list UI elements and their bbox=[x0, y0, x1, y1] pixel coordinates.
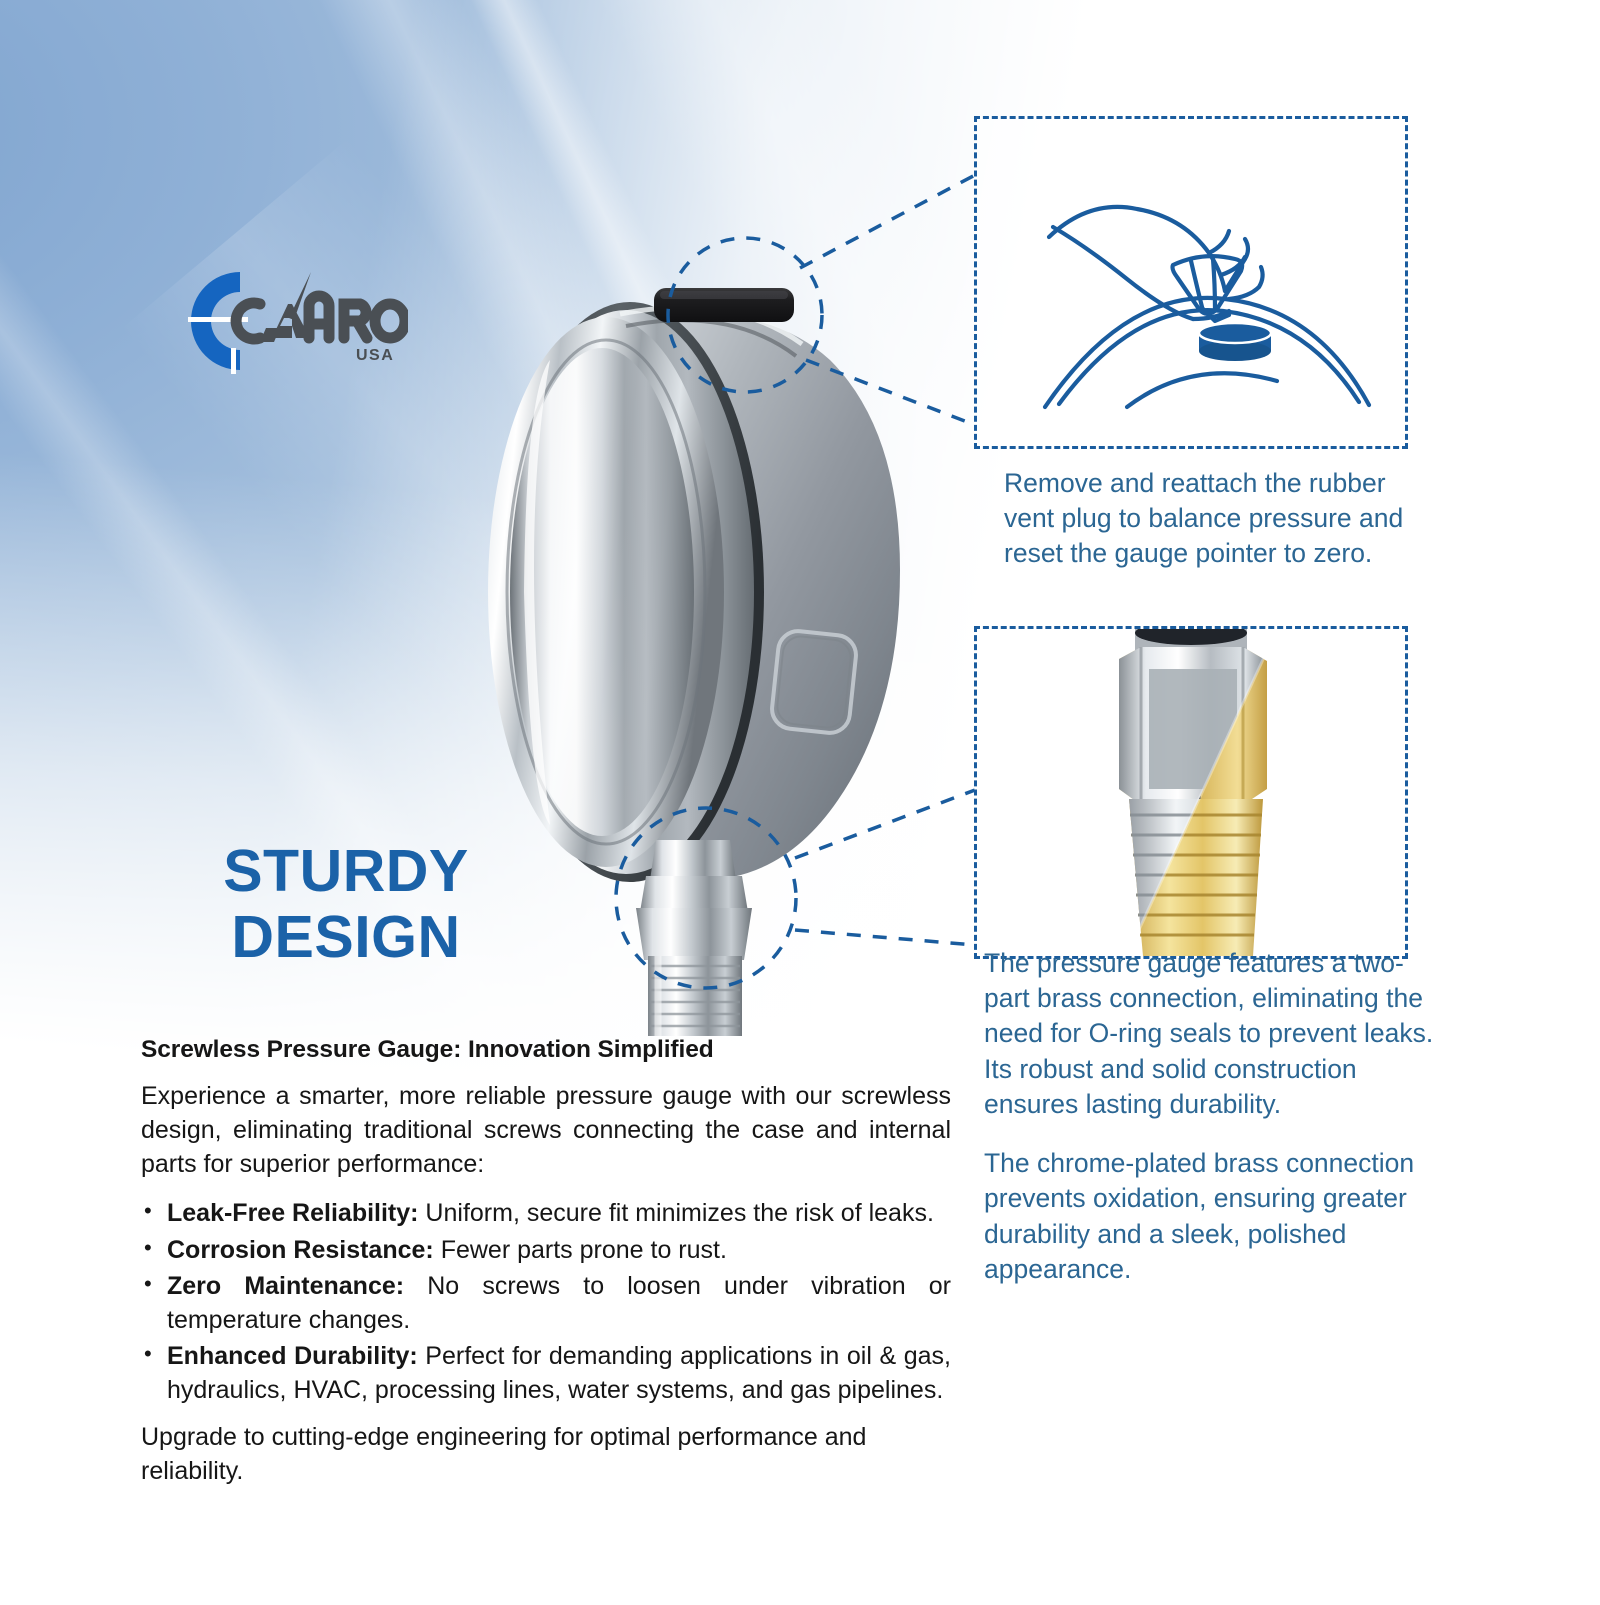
bullet-label: Leak-Free Reliability: bbox=[167, 1199, 418, 1227]
chrome-plated-brass-connection-photo bbox=[977, 629, 1405, 956]
list-item: Enhanced Durability: Perfect for demandi… bbox=[141, 1340, 951, 1407]
vent-plug-disc-icon bbox=[1199, 323, 1271, 361]
carbo-usa-logo: USA bbox=[168, 262, 408, 380]
body-copy-block: Screwless Pressure Gauge: Innovation Sim… bbox=[141, 1036, 951, 1488]
vent-plug-caption: Remove and reattach the rubber vent plug… bbox=[1004, 466, 1434, 572]
feature-bullet-list: Leak-Free Reliability: Uniform, secure f… bbox=[141, 1197, 951, 1407]
bullet-label: Enhanced Durability: bbox=[167, 1342, 418, 1370]
brass-caption-line-b: Its robust and solid construction ensure… bbox=[984, 1054, 1357, 1119]
brass-connection-caption: The pressure gauge features a two-part b… bbox=[984, 946, 1434, 1287]
body-intro-paragraph: Experience a smarter, more reliable pres… bbox=[141, 1080, 951, 1181]
rubber-vent-plug-icon bbox=[654, 288, 794, 322]
product-image-pressure-gauge bbox=[430, 240, 970, 1040]
vent-plug-illustration-panel bbox=[974, 116, 1408, 449]
list-item: Leak-Free Reliability: Uniform, secure f… bbox=[141, 1197, 951, 1231]
brass-caption-line-a: The pressure gauge features a two-part b… bbox=[984, 948, 1433, 1048]
brass-caption-paragraph-2: The chrome-plated brass connection preve… bbox=[984, 1146, 1434, 1287]
vent-plug-caption-text: Remove and reattach the rubber vent plug… bbox=[1004, 468, 1403, 568]
body-heading: Screwless Pressure Gauge: Innovation Sim… bbox=[141, 1036, 951, 1064]
brass-connection-panel bbox=[974, 626, 1408, 959]
bullet-text: Fewer parts prone to rust. bbox=[434, 1236, 727, 1264]
hand-removing-rubber-vent-plug-illustration bbox=[977, 119, 1405, 446]
body-outro-paragraph: Upgrade to cutting-edge engineering for … bbox=[141, 1421, 951, 1488]
list-item: Corrosion Resistance: Fewer parts prone … bbox=[141, 1234, 951, 1268]
logo-usa-label: USA bbox=[356, 347, 394, 364]
bullet-label: Corrosion Resistance: bbox=[167, 1236, 434, 1264]
list-item: Zero Maintenance: No screws to loosen un… bbox=[141, 1270, 951, 1337]
bullet-label: Zero Maintenance: bbox=[167, 1272, 404, 1300]
bullet-text: Uniform, secure fit minimizes the risk o… bbox=[418, 1199, 933, 1227]
brass-caption-paragraph-1: The pressure gauge features a two-part b… bbox=[984, 946, 1434, 1122]
